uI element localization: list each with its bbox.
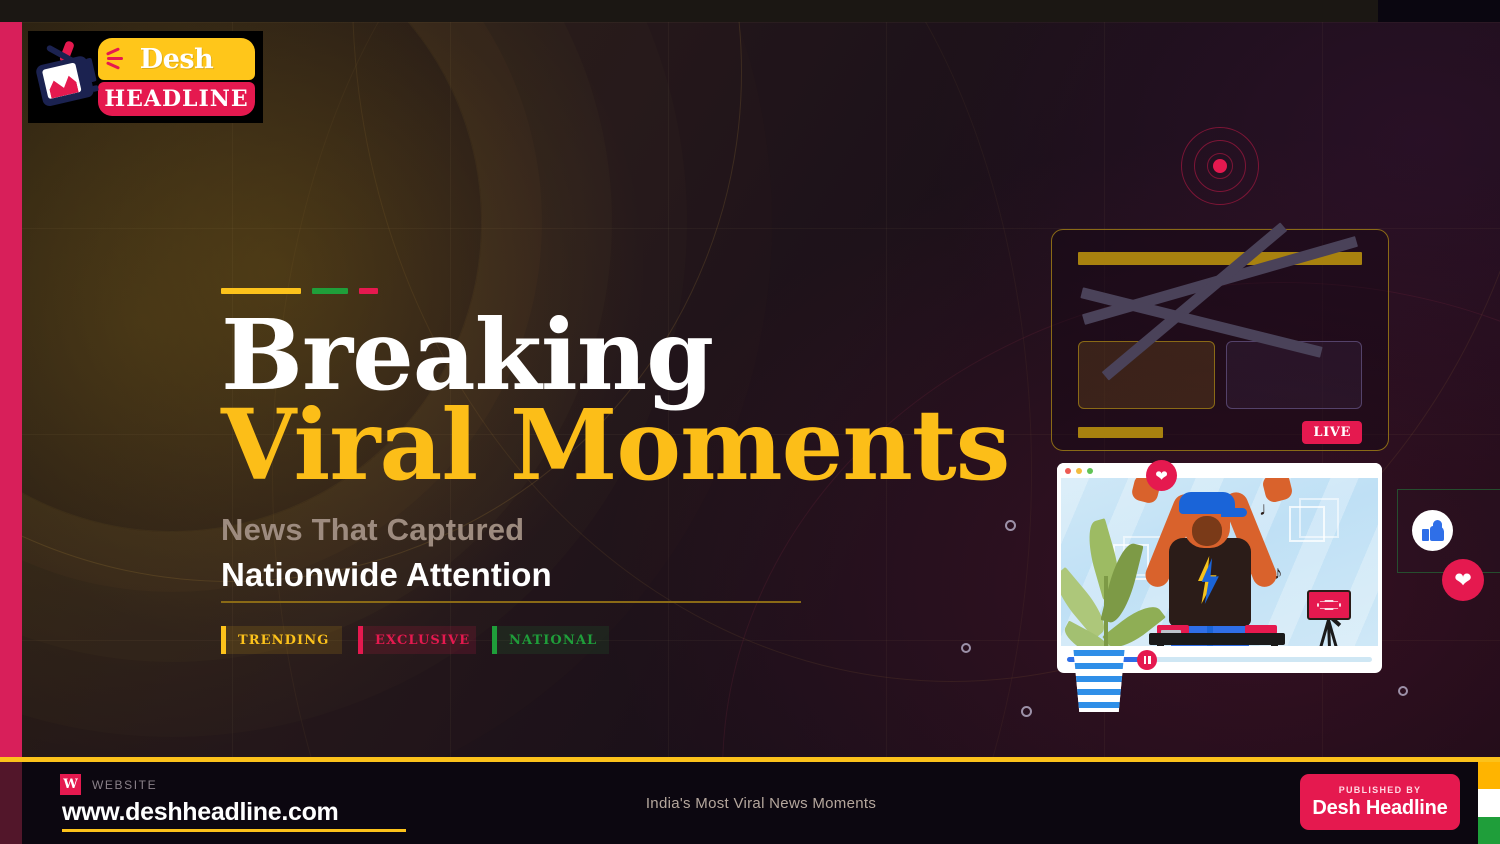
exclamation-dot-icon (92, 85, 99, 92)
flag-saffron-band (1478, 762, 1500, 789)
logo-top-plate: Desh (98, 38, 255, 80)
logo-bottom-text: HEADLINE (104, 86, 248, 112)
decor-circle-3 (1021, 706, 1032, 717)
accent-dashes (221, 288, 1081, 294)
wireframe-image-placeholder (1078, 341, 1215, 409)
left-edge-accent-bar-bottom (0, 760, 22, 844)
thumbs-up-reaction-icon[interactable] (1412, 510, 1453, 551)
dj-desk-leg-right (1271, 645, 1278, 646)
tag-row: TRENDING EXCLUSIVE NATIONAL (221, 626, 1081, 654)
tv-icon (28, 40, 102, 114)
left-edge-accent-bar (0, 0, 22, 760)
plant-pot (1070, 650, 1128, 712)
website-block[interactable]: W WEBSITE www.deshheadline.com (60, 774, 406, 832)
character-cap-brim (1221, 508, 1247, 517)
heart-reaction-bubble-icon: ❤ (1146, 460, 1177, 491)
character-face (1192, 516, 1222, 546)
wireframe-caption-bar (1078, 427, 1163, 438)
flag-white-band (1478, 789, 1500, 816)
subtitle-line-2: Nationwide Attention (221, 556, 1081, 594)
wireframe-footer: LIVE (1078, 421, 1362, 444)
tricolor-flag-stripe (1478, 762, 1500, 844)
radar-core-dot (1213, 159, 1227, 173)
radar-pulse-icon (1181, 127, 1259, 205)
tag-national[interactable]: NATIONAL (492, 626, 609, 654)
tag-label: EXCLUSIVE (363, 626, 476, 654)
spark-icon (106, 48, 124, 68)
decor-circle-4 (1398, 686, 1408, 696)
page-title: Breaking Viral Moments (221, 308, 1081, 492)
footer-bar: India's Most Viral News Moments W WEBSIT… (22, 762, 1500, 844)
website-url-underline (62, 829, 406, 832)
subtitle-underline (221, 601, 801, 603)
flag-green-band (1478, 817, 1500, 844)
tag-exclusive[interactable]: EXCLUSIVE (358, 626, 476, 654)
dj-desk (1149, 633, 1285, 645)
news-card-wireframe: LIVE (1051, 229, 1389, 451)
tag-label: NATIONAL (497, 626, 609, 654)
subtitle-line-1: News That Captured (221, 512, 1081, 548)
traffic-light-green-icon (1087, 468, 1093, 474)
published-by-label: PUBLISHED BY (1339, 785, 1422, 795)
top-strip (0, 0, 1500, 22)
logo-bottom-plate: HEADLINE (98, 82, 255, 116)
accent-dash-yellow (221, 288, 301, 294)
video-player-illustration[interactable]: ♪ ♩ ♩ ♪ (1057, 463, 1382, 673)
browser-title-bar (1057, 463, 1382, 478)
poster-canvas: Desh HEADLINE Breaking Viral Moments New… (0, 0, 1500, 844)
logo-top-text: Desh (140, 44, 213, 75)
accent-dash-green (312, 288, 348, 294)
tag-trending[interactable]: TRENDING (221, 626, 342, 654)
published-by-name: Desh Headline (1312, 797, 1447, 820)
brand-logo[interactable]: Desh HEADLINE (28, 31, 263, 123)
website-label: WEBSITE (92, 778, 157, 792)
decor-cube-right-icon (1289, 506, 1325, 542)
music-note-icon: ♩ (1259, 500, 1278, 519)
published-by-badge: PUBLISHED BY Desh Headline (1300, 774, 1460, 830)
headline-block: Breaking Viral Moments News That Capture… (221, 288, 1081, 654)
heart-reaction-icon[interactable]: ❤ (1442, 559, 1484, 601)
camera-icon (1307, 590, 1351, 620)
headline-line-2: Viral Moments (221, 398, 1081, 492)
footer-divider (0, 757, 1500, 762)
website-badge-icon: W (60, 774, 81, 795)
top-strip-right (1378, 0, 1500, 22)
website-url[interactable]: www.deshheadline.com (62, 798, 406, 827)
dj-desk-leg-left (1157, 645, 1164, 646)
live-badge: LIVE (1302, 421, 1362, 444)
tag-label: TRENDING (226, 626, 342, 654)
plant-stem (1104, 576, 1108, 646)
video-scene: ♪ ♩ ♩ ♪ (1061, 478, 1378, 646)
accent-dash-pink (359, 288, 378, 294)
logo-wordmark: Desh HEADLINE (98, 38, 255, 116)
pause-button[interactable] (1137, 650, 1157, 670)
